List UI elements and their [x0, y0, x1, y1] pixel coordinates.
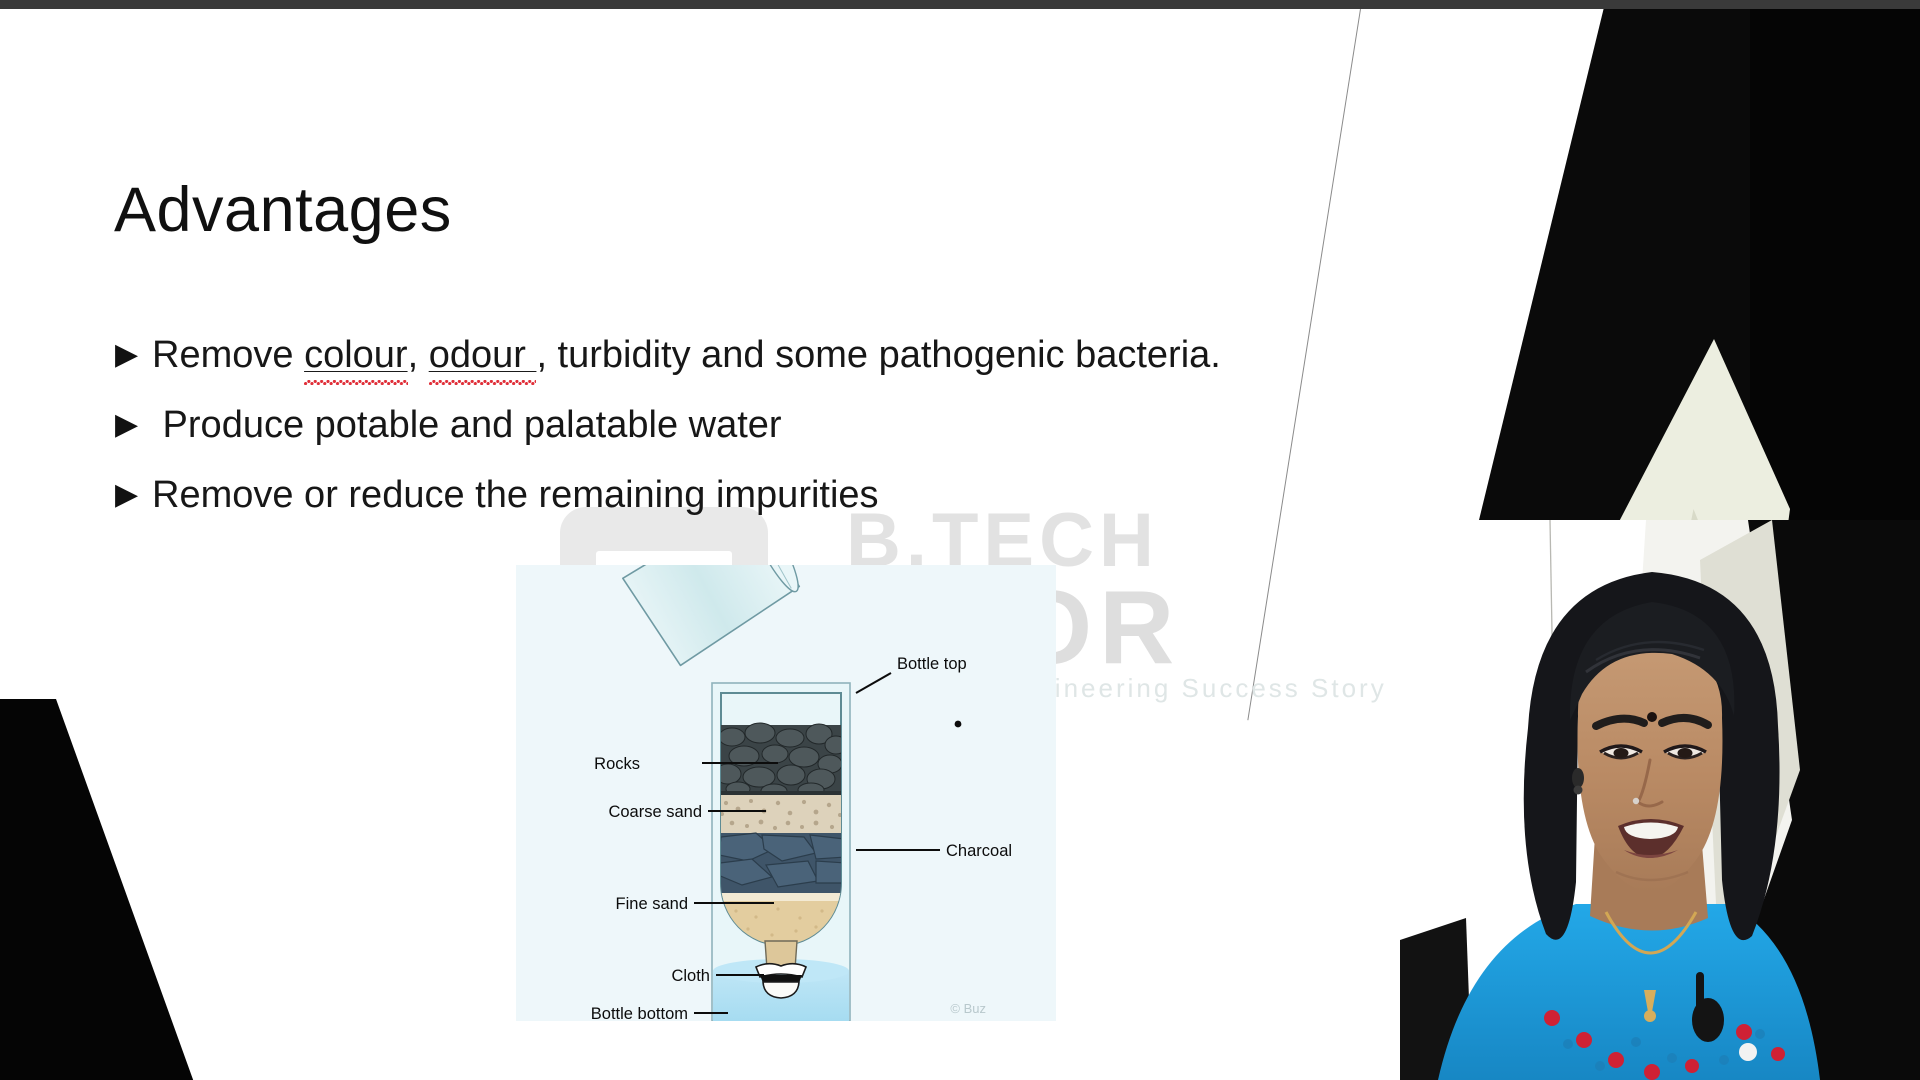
bullet-1-mid: , — [408, 334, 429, 376]
presenter-video-overlay — [1400, 520, 1920, 1080]
list-item: ▶ Produce potable and palatable water — [112, 399, 1532, 455]
misspelled-word-odour: odour — [429, 334, 537, 376]
decor-left-wedge — [0, 699, 200, 1080]
triangle-bullet-icon: ▶ — [112, 329, 152, 381]
triangle-bullet-icon: ▶ — [112, 469, 152, 521]
bullet-text-3: Remove or reduce the remaining impuritie… — [152, 469, 879, 521]
list-item: ▶ Remove colour, odour , turbidity and s… — [112, 329, 1532, 385]
diagram-dot-marker — [955, 721, 962, 728]
window-top-bar — [0, 0, 1920, 9]
diagram-label-rocks: Rocks — [594, 755, 640, 773]
triangle-bullet-icon: ▶ — [112, 399, 152, 451]
page-title: Advantages — [114, 174, 452, 246]
diagram-label-cloth: Cloth — [671, 967, 710, 985]
diagram-label-fine-sand: Fine sand — [616, 895, 688, 913]
bullet-1-pre: Remove — [152, 334, 304, 376]
bullet-text-2: Produce potable and palatable water — [152, 399, 782, 451]
screen: Advantages ▶ Remove colour, odour , turb… — [0, 0, 1920, 1080]
bullet-text-1: Remove colour, odour , turbidity and som… — [152, 329, 1221, 381]
bullet-list: ▶ Remove colour, odour , turbidity and s… — [112, 329, 1532, 539]
misspelled-word-colour: colour — [304, 334, 408, 376]
bullet-1-post: , turbidity and some pathogenic bacteria… — [536, 334, 1220, 376]
list-item: ▶ Remove or reduce the remaining impurit… — [112, 469, 1532, 525]
diagram-label-charcoal: Charcoal — [946, 842, 1012, 860]
diagram-label-bottle-top: Bottle top — [897, 655, 967, 673]
water-filter-diagram: Bottle top Rocks Coarse sand Charcoal Fi… — [516, 565, 1056, 1021]
diagram-label-bottle-bottom: Bottle bottom — [591, 1005, 688, 1021]
diagram-copyright: © Buz — [950, 1001, 986, 1016]
diagram-label-coarse-sand: Coarse sand — [608, 803, 702, 821]
